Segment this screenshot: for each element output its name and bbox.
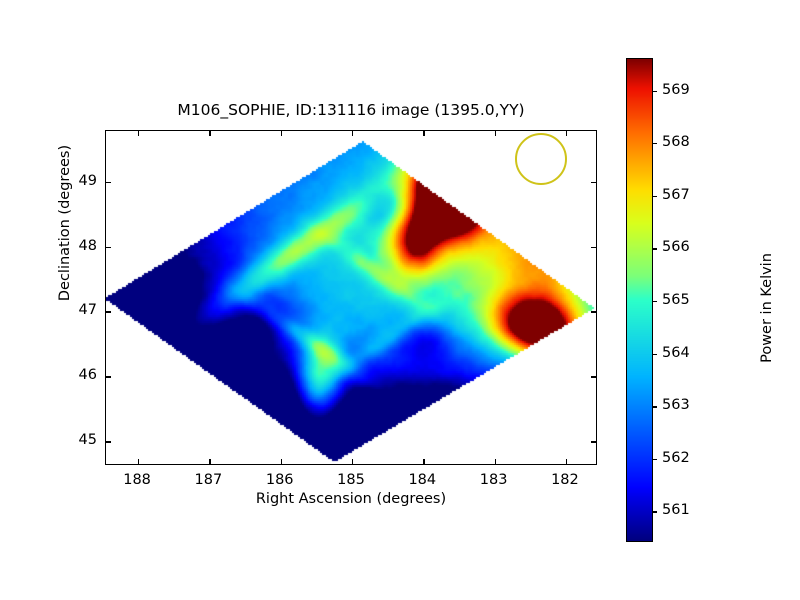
x-tick-mark-top (423, 131, 424, 136)
colorbar-tick-label: 561 (662, 502, 690, 518)
page-title: M106_SOPHIE, ID:131116 image (1395.0,YY) (105, 101, 597, 119)
x-axis-label: Right Ascension (degrees) (105, 491, 597, 507)
x-tick-label: 184 (408, 472, 436, 488)
y-tick-mark-right (591, 182, 596, 183)
y-tick-mark-right (591, 311, 596, 312)
y-tick-mark-right (591, 441, 596, 442)
colorbar-tick-label: 566 (662, 239, 690, 255)
y-tick-mark (106, 376, 111, 377)
x-tick-label: 182 (551, 472, 579, 488)
colorbar-gradient (627, 59, 652, 541)
x-tick-label: 183 (480, 472, 508, 488)
y-tick-mark-right (591, 247, 596, 248)
x-tick-label: 185 (337, 472, 365, 488)
x-tick-mark-top (209, 131, 210, 136)
colorbar-tick-mark (652, 301, 657, 302)
y-tick-mark (106, 311, 111, 312)
colorbar[interactable] (626, 58, 653, 542)
colorbar-tick-label: 567 (662, 187, 690, 203)
y-tick-mark-right (591, 376, 596, 377)
beam-size-circle-annotation (515, 133, 568, 186)
colorbar-tick-label: 563 (662, 397, 690, 413)
x-tick-mark (281, 459, 282, 464)
figure-canvas: M106_SOPHIE, ID:131116 image (1395.0,YY)… (0, 0, 800, 600)
y-axis-label: Declination (degrees) (57, 58, 73, 388)
y-tick-label: 45 (53, 432, 97, 448)
colorbar-tick-mark (652, 406, 657, 407)
x-tick-mark (352, 459, 353, 464)
y-tick-mark (106, 182, 111, 183)
x-tick-mark-top (495, 131, 496, 136)
colorbar-tick-mark (652, 248, 657, 249)
colorbar-tick-mark (652, 196, 657, 197)
x-tick-label: 187 (195, 472, 223, 488)
colorbar-tick-mark (652, 511, 657, 512)
colorbar-tick-label: 568 (662, 134, 690, 150)
colorbar-label: Power in Kelvin (759, 158, 775, 458)
x-tick-mark-top (281, 131, 282, 136)
y-tick-mark (106, 247, 111, 248)
colorbar-tick-label: 564 (662, 345, 690, 361)
colorbar-tick-mark (652, 91, 657, 92)
x-tick-label: 186 (266, 472, 294, 488)
colorbar-tick-mark (652, 459, 657, 460)
y-tick-mark (106, 441, 111, 442)
x-tick-mark (495, 459, 496, 464)
x-tick-mark (566, 459, 567, 464)
colorbar-tick-label: 569 (662, 82, 690, 98)
x-tick-mark-top (352, 131, 353, 136)
x-tick-mark (209, 459, 210, 464)
x-tick-label: 188 (123, 472, 151, 488)
sky-image-heatmap[interactable] (106, 131, 597, 465)
main-plot-axes[interactable] (105, 130, 597, 465)
x-tick-mark-top (566, 131, 567, 136)
colorbar-tick-mark (652, 354, 657, 355)
x-tick-mark-top (138, 131, 139, 136)
colorbar-tick-mark (652, 143, 657, 144)
x-tick-mark (138, 459, 139, 464)
x-tick-mark (423, 459, 424, 464)
colorbar-tick-label: 565 (662, 292, 690, 308)
colorbar-tick-label: 562 (662, 450, 690, 466)
